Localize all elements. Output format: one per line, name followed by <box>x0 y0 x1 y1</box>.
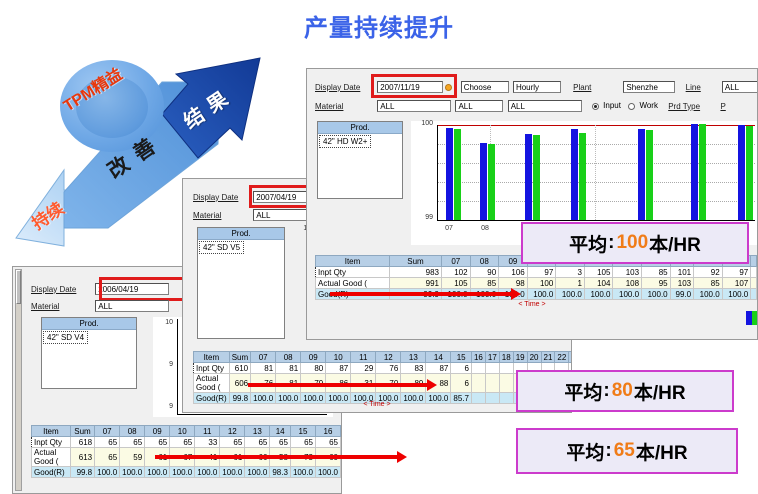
cell: 98.3 <box>270 467 291 478</box>
table-header-row: Item Sum 07 08 09 10 11 12 13 14 15 16 <box>32 426 341 437</box>
cell: 6 <box>451 363 472 374</box>
callout-sep: : <box>602 380 610 402</box>
table-header-row: Item Sum 07 08 09 10 11 12 13 14 15 16 1… <box>194 352 573 363</box>
callout-avg-80: 平均 : 80 本/HR <box>516 370 734 412</box>
cell: 103 <box>613 267 642 278</box>
bar-input <box>571 129 578 220</box>
th: 11 <box>351 352 376 363</box>
cell <box>485 374 499 393</box>
material-label: Material <box>193 211 251 220</box>
th: 17 <box>485 352 499 363</box>
cell <box>751 289 757 300</box>
cell: 1 <box>556 278 585 289</box>
material-select[interactable]: ALL <box>95 300 169 312</box>
row-label: Inpt Qty <box>32 437 71 448</box>
th: 10 <box>170 426 195 437</box>
th: 16 <box>471 352 485 363</box>
bar-input <box>525 134 532 220</box>
work-radio-label: Work <box>639 101 658 110</box>
highlight-box-date-top <box>371 74 457 98</box>
top-time-caption: < Time > <box>307 301 757 308</box>
th: 20 <box>527 352 541 363</box>
cell: 106 <box>499 267 528 278</box>
target-line <box>438 125 755 126</box>
callout-unit: 本/HR <box>634 378 686 405</box>
bar-input <box>638 129 645 220</box>
cell: 65 <box>315 437 340 448</box>
cell: 85 <box>642 267 671 278</box>
bar-input <box>691 124 698 220</box>
ytick: 99 <box>411 214 433 221</box>
row-label: Inpt Qty <box>316 267 390 278</box>
ytick: 9 <box>153 361 173 368</box>
cell: 81 <box>251 363 276 374</box>
cell: 65 <box>245 437 270 448</box>
table-row[interactable]: Actual Good ( 991 105 85 98 100 1 104 10… <box>316 278 757 289</box>
cell: 100.0 <box>556 289 585 300</box>
cell: 983 <box>390 267 442 278</box>
callout-value: 65 <box>613 440 636 462</box>
cell: 98 <box>499 278 528 289</box>
callout-prefix: 平均 <box>569 230 607 257</box>
cell <box>751 278 757 289</box>
cell: 3 <box>556 267 585 278</box>
mid-material-row: Material ALL <box>193 209 319 221</box>
input-radio[interactable] <box>592 103 599 110</box>
th: Item <box>316 256 390 267</box>
th: 09 <box>301 352 326 363</box>
th: 14 <box>426 352 451 363</box>
prd-type-label: Prd Type <box>668 102 718 111</box>
cell: 100.0 <box>95 467 120 478</box>
callout-unit: 本/HR <box>649 230 701 257</box>
cell: 85 <box>470 278 499 289</box>
cell: 610 <box>229 363 250 374</box>
cell: 104 <box>584 278 613 289</box>
material-label: Material <box>315 102 375 111</box>
cell: 83 <box>401 363 426 374</box>
th: 08 <box>276 352 301 363</box>
cell: 100.0 <box>290 467 315 478</box>
cell: 81 <box>276 363 301 374</box>
callout-sep: : <box>604 440 612 462</box>
cell: 991 <box>390 278 442 289</box>
prod-header: Prod. <box>198 228 284 240</box>
cell: 33 <box>195 437 220 448</box>
hourly-select[interactable]: Hourly <box>513 81 561 93</box>
th: 12 <box>220 426 245 437</box>
callout-value: 80 <box>611 380 634 402</box>
cell: 90 <box>470 267 499 278</box>
th: Sum <box>70 426 94 437</box>
cell: 100.0 <box>722 289 751 300</box>
cell: 80 <box>301 363 326 374</box>
prd-type-value: P <box>720 102 734 111</box>
cell: 65 <box>220 437 245 448</box>
th: 23 <box>569 352 572 363</box>
prod-item[interactable]: 42" SD V4 <box>43 331 88 344</box>
cell <box>471 374 485 393</box>
bar-good <box>533 135 540 220</box>
cell: 65 <box>145 437 170 448</box>
cell: 101 <box>670 267 693 278</box>
ytick: 10 <box>153 319 173 326</box>
line-select[interactable]: ALL <box>722 81 758 93</box>
bottom-prod-list[interactable]: Prod. 42" SD V4 <box>41 317 137 389</box>
bottom-material-row: Material ALL <box>31 300 169 312</box>
cell: 65 <box>95 448 120 467</box>
panel-bottom-scrollbar[interactable] <box>15 269 22 491</box>
top-chart-plot <box>437 125 755 221</box>
th: Sum <box>229 352 250 363</box>
cell: 100.0 <box>245 467 270 478</box>
xtick: 08 <box>473 225 497 232</box>
cell: 618 <box>70 437 94 448</box>
table-row[interactable]: Inpt Qty 618 65 65 65 65 33 65 65 65 65 … <box>32 437 341 448</box>
cell <box>485 363 499 374</box>
th: 15 <box>290 426 315 437</box>
display-date-label: Display Date <box>31 285 93 294</box>
callout-avg-100: 平均 : 100 本/HR <box>521 222 749 264</box>
callout-prefix: 平均 <box>564 378 602 405</box>
input-radio-label: Input <box>603 101 621 110</box>
cell: 105 <box>442 278 471 289</box>
cell: 29 <box>351 363 376 374</box>
prod-item[interactable]: 42" SD V5 <box>199 241 244 254</box>
table-row[interactable]: Inpt Qty 983 102 90 106 97 3 105 103 85 … <box>316 267 757 278</box>
th: 13 <box>401 352 426 363</box>
row-label: Actual Good ( <box>316 278 390 289</box>
cell: 100.0 <box>584 289 613 300</box>
trend-arrow-mid <box>248 383 428 387</box>
legend-swatch-green <box>752 311 757 325</box>
line-label: Line <box>686 83 720 92</box>
cell: 99.8 <box>70 467 94 478</box>
th: 14 <box>270 426 291 437</box>
th: 19 <box>513 352 527 363</box>
cell: 100.0 <box>220 467 245 478</box>
callout-unit: 本/HR <box>636 438 688 465</box>
cell: 100.0 <box>170 467 195 478</box>
cell <box>751 267 757 278</box>
th: 13 <box>245 426 270 437</box>
xtick: 07 <box>437 225 461 232</box>
prod-header: Prod. <box>318 122 402 134</box>
th: 07 <box>95 426 120 437</box>
display-date-label: Display Date <box>193 193 251 202</box>
scroll-thumb[interactable] <box>16 270 21 304</box>
cell <box>499 374 513 393</box>
cell: 65 <box>290 437 315 448</box>
cell: 87 <box>326 363 351 374</box>
cell: 102 <box>442 267 471 278</box>
cell: 87 <box>426 363 451 374</box>
cell: 613 <box>70 448 94 467</box>
callout-sep: : <box>607 232 615 254</box>
callout-avg-65: 平均 : 65 本/HR <box>516 428 738 474</box>
plant-label: Plant <box>573 83 621 92</box>
row-label: Actual Good ( <box>32 448 71 467</box>
th <box>751 256 757 267</box>
cell: 100.0 <box>120 467 145 478</box>
bar-input <box>446 128 453 220</box>
prod-header: Prod. <box>42 318 136 330</box>
cell: 85 <box>694 278 723 289</box>
cell: 100.0 <box>642 289 671 300</box>
cell: 100.0 <box>613 289 642 300</box>
cell: 65 <box>270 437 291 448</box>
cell: 59 <box>120 448 145 467</box>
bar-input <box>738 125 745 220</box>
bar-good <box>646 130 653 220</box>
row-label: Inpt Qty <box>194 363 230 374</box>
cell: 97 <box>722 267 751 278</box>
bottom-data-table[interactable]: Item Sum 07 08 09 10 11 12 13 14 15 16 I… <box>31 425 341 478</box>
th: 15 <box>451 352 472 363</box>
bar-good <box>699 124 706 220</box>
th: 11 <box>195 426 220 437</box>
display-date-label: Display Date <box>315 83 375 92</box>
panel-production-2007-11[interactable]: Display Date 2007/11/19 Choose Hourly Pl… <box>306 68 758 340</box>
choose-select[interactable]: Choose <box>461 81 509 93</box>
cell: 92 <box>694 267 723 278</box>
bar-good <box>579 133 586 220</box>
th: 22 <box>555 352 569 363</box>
callout-value: 100 <box>615 232 649 254</box>
trend-arrow-bottom <box>155 455 398 459</box>
highlight-box-date-bottom <box>99 277 185 301</box>
cell: 97 <box>527 267 556 278</box>
th: 10 <box>326 352 351 363</box>
cell: 65 <box>95 437 120 448</box>
ytick: 100 <box>411 120 433 127</box>
cell: 65 <box>170 437 195 448</box>
cell: 100.0 <box>315 467 340 478</box>
material-select-3[interactable]: ALL <box>508 100 582 112</box>
cell: 103 <box>670 278 693 289</box>
ytick: 9 <box>153 403 173 410</box>
cell: 6 <box>451 374 472 393</box>
top-prod-list[interactable]: Prod. 42" HD W2+ <box>317 121 403 199</box>
cell: 105 <box>584 267 613 278</box>
cell: 99.0 <box>670 289 693 300</box>
material-select-2[interactable]: ALL <box>455 100 503 112</box>
mid-prod-list[interactable]: Prod. 42" SD V5 <box>197 227 285 339</box>
th: Item <box>194 352 230 363</box>
cell: 65 <box>120 437 145 448</box>
table-row[interactable]: Good(R) 99.8 100.0 100.0 100.0 100.0 100… <box>32 467 341 478</box>
cell: 95 <box>642 278 671 289</box>
th: 07 <box>442 256 471 267</box>
callout-prefix: 平均 <box>566 438 604 465</box>
bar-good <box>454 129 461 220</box>
th: 08 <box>470 256 499 267</box>
th: 18 <box>499 352 513 363</box>
cell: 100.0 <box>145 467 170 478</box>
cell: 108 <box>613 278 642 289</box>
bar-good <box>488 144 495 220</box>
th: 08 <box>120 426 145 437</box>
row-label: Good(R) <box>32 467 71 478</box>
cell: 107 <box>722 278 751 289</box>
cell: 100.0 <box>694 289 723 300</box>
cell: 76 <box>376 363 401 374</box>
cell: 100.0 <box>195 467 220 478</box>
th: 07 <box>251 352 276 363</box>
material-select[interactable]: ALL <box>377 100 451 112</box>
cell <box>499 363 513 374</box>
th: 16 <box>315 426 340 437</box>
row-label: Actual Good ( <box>194 374 230 393</box>
prod-item[interactable]: 42" HD W2+ <box>319 135 371 148</box>
th: Sum <box>390 256 442 267</box>
trend-arrow-top <box>330 292 512 296</box>
bar-input <box>480 143 487 220</box>
th: 12 <box>376 352 401 363</box>
th: 09 <box>145 426 170 437</box>
work-radio[interactable] <box>628 103 635 110</box>
th: Item <box>32 426 71 437</box>
mid-time-caption: < Time > <box>183 401 571 408</box>
cell: 100.0 <box>527 289 556 300</box>
bar-good <box>746 126 753 220</box>
cell <box>471 363 485 374</box>
top-row-2: Material ALL ALL ALL Input Work Prd Type… <box>315 100 734 112</box>
plant-select[interactable]: Shenzhe <box>623 81 675 93</box>
cell: 100 <box>527 278 556 289</box>
th: 21 <box>541 352 555 363</box>
material-label: Material <box>31 302 93 311</box>
page-title: 产量持续提升 <box>0 8 758 43</box>
